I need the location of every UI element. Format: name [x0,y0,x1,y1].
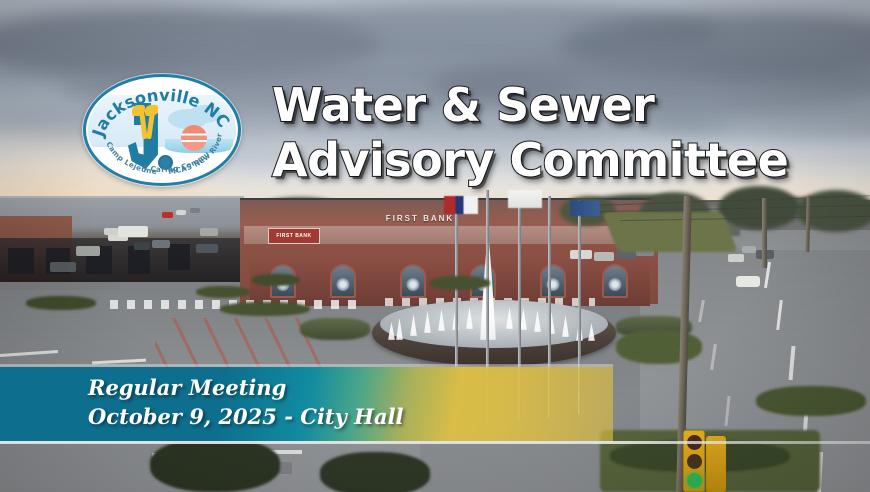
city-logo-inner: Jacksonville NC Camp Lejeune MCAS New Ri… [88,79,236,181]
meeting-subtitle: Regular Meeting October 9, 2025 - City H… [88,373,404,431]
video-title-card: FIRST BANK FIRST BANK FIRST BANK [0,0,870,492]
vehicle-van [118,226,148,237]
svg-text:Jacksonville NC: Jacksonville NC [88,86,233,140]
foreground-tree [150,438,280,492]
utility-pole [762,198,767,268]
storefront-window [128,246,150,274]
vehicle [570,250,592,259]
banner-bottom-edge [0,441,870,444]
signal-yellow-lamp [687,454,702,469]
page-title: Water & Sewer Advisory Committee [272,78,792,188]
flag-city [508,190,542,208]
bank-arched-window [400,264,426,298]
title-line-2: Advisory Committee [272,133,792,188]
vehicle [134,242,150,250]
bank-building-sign: FIRST BANK [330,214,510,223]
flag-blue [570,200,600,216]
median-shrubs [220,302,310,316]
vehicle [50,262,76,272]
vehicle [196,244,218,253]
roadside-shrubs [616,330,702,364]
subtitle-line-1: Regular Meeting [88,375,286,400]
logo-arc-text: Jacksonville NC Camp Lejeune MCAS New Ri… [88,79,236,181]
median-shrubs [196,286,250,298]
bank-arched-window [540,264,566,298]
landscape-planter [300,318,370,340]
bank-arched-window [330,264,356,298]
median-shrubs [26,296,96,310]
traffic-signal [683,430,705,492]
vehicle [728,254,744,262]
vehicle [152,240,170,248]
title-line-1: Water & Sewer [272,78,654,132]
vehicle [162,212,173,218]
vehicle [190,208,200,213]
vehicle [176,210,186,215]
vehicle [742,246,756,253]
roadside-shrubs [756,386,866,416]
flag-north-carolina [444,196,478,214]
traffic-signal-secondary [706,436,726,492]
median-shrubs [430,276,490,290]
subtitle-line-2: October 9, 2025 - City Hall [88,402,404,431]
bank-sign-left: FIRST BANK [268,228,320,244]
vehicle [76,246,100,256]
vehicle [594,252,614,261]
storefront-window [168,244,190,270]
bank-arched-window [602,264,628,298]
signal-green-lamp [687,473,702,488]
city-logo: Jacksonville NC Camp Lejeune MCAS New Ri… [83,74,241,186]
storefront-window [8,248,34,274]
median-shrubs [252,274,300,286]
vehicle [200,228,218,236]
vehicle [736,276,760,287]
foreground-tree [320,452,430,492]
